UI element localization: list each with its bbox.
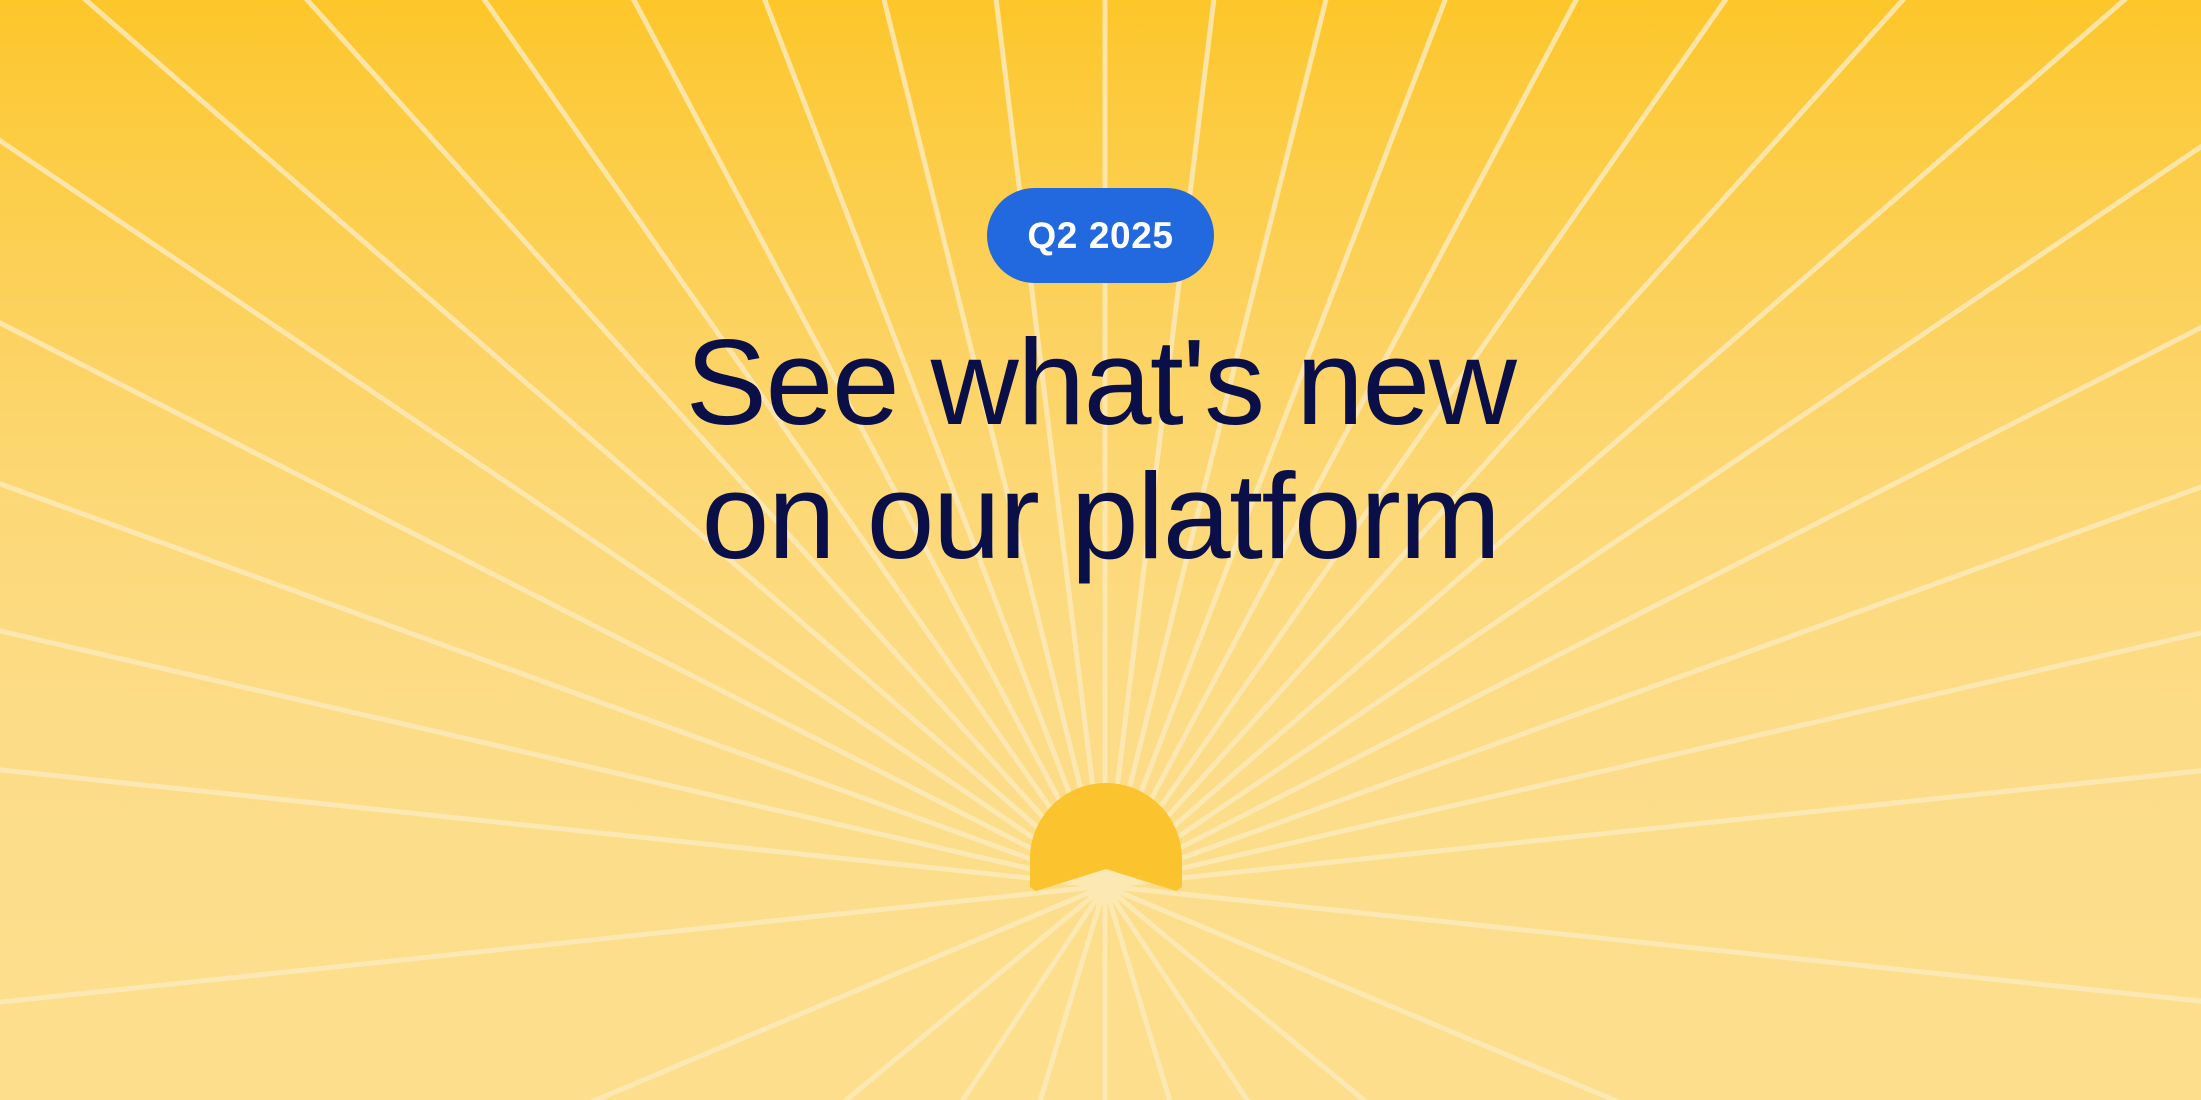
quarter-badge[interactable]: Q2 2025: [987, 188, 1213, 283]
page-title: See what's new on our platform: [686, 321, 1516, 577]
page-title-line-2: on our platform: [686, 455, 1516, 577]
hero-content: Q2 2025 See what's new on our platform: [0, 0, 2201, 1100]
page-title-line-1: See what's new: [686, 321, 1516, 443]
hero-banner: Q2 2025 See what's new on our platform: [0, 0, 2201, 1100]
